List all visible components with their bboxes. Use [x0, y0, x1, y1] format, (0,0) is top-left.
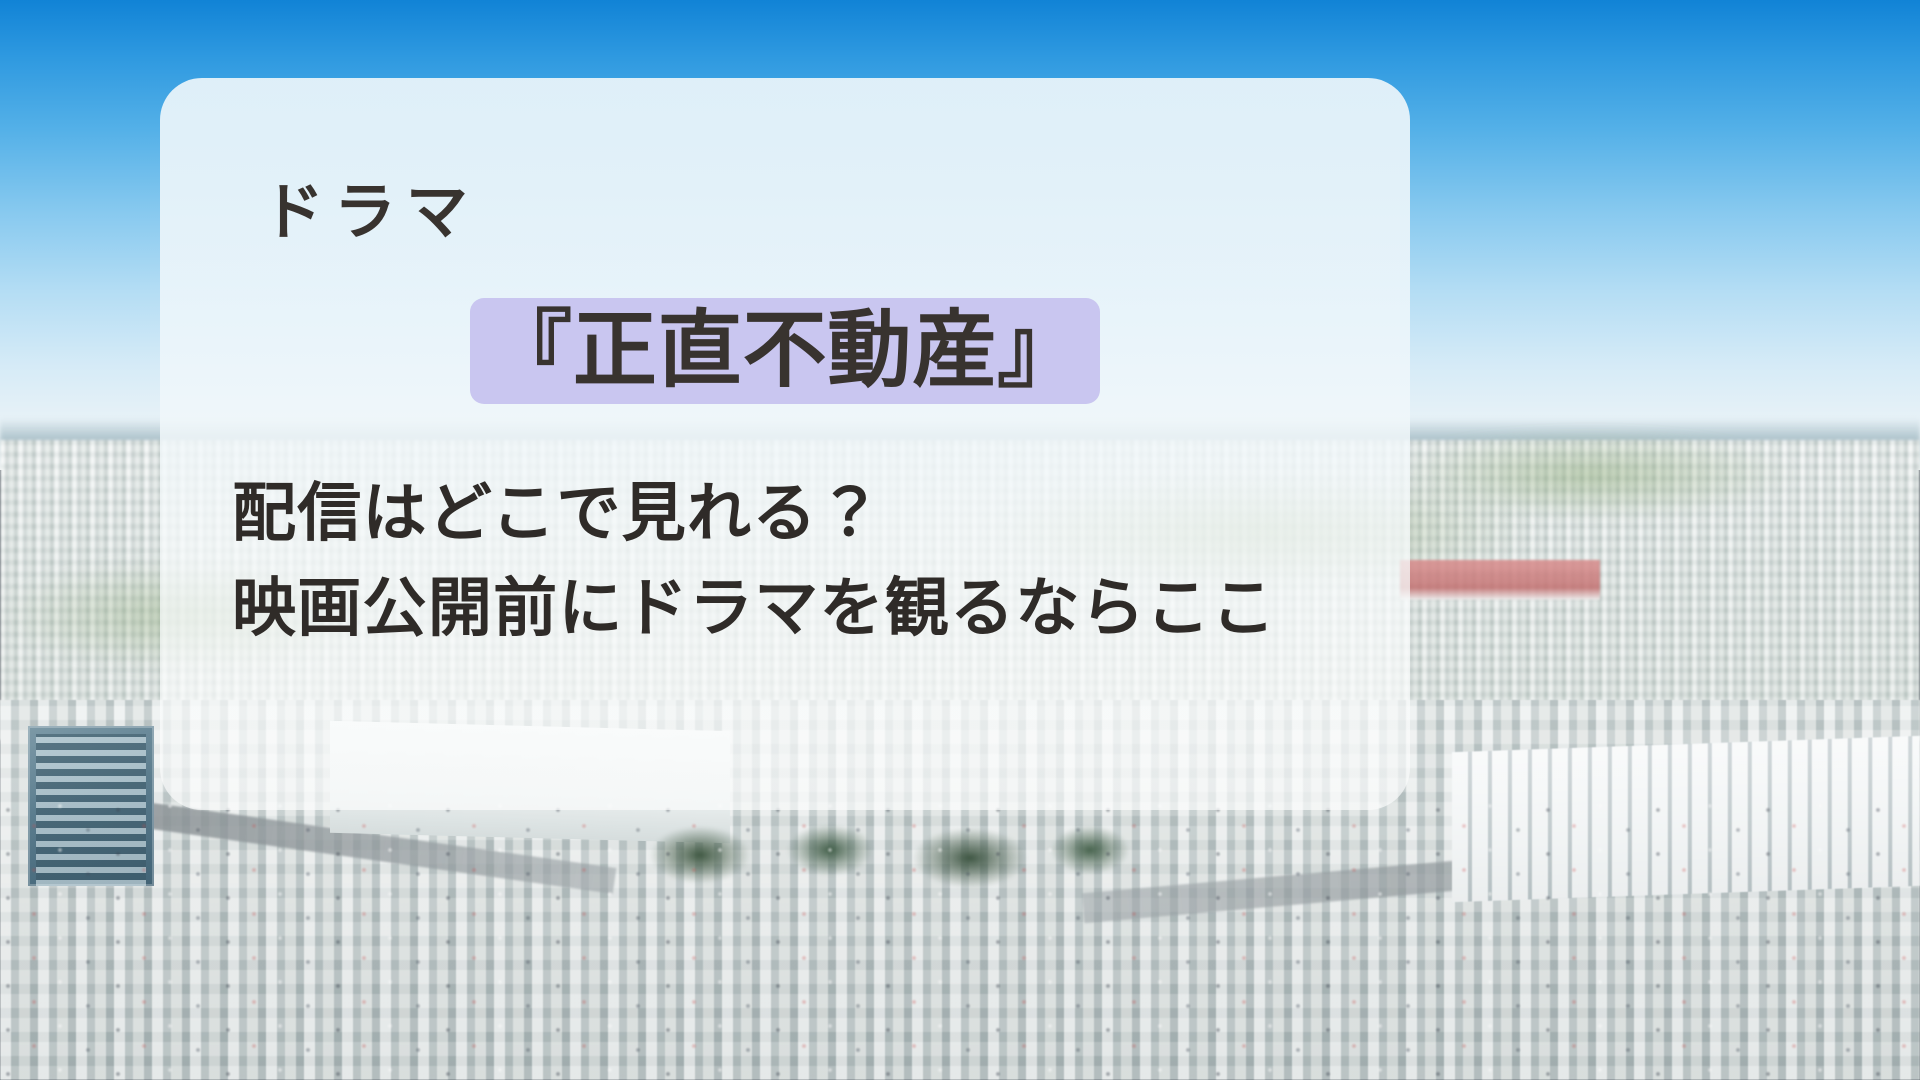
parking-lot-cars	[0, 800, 1920, 1080]
subtitle-line-2: 映画公開前にドラマを観るならここ	[232, 561, 1276, 656]
subtitle-line-1: 配信はどこで見れる？	[232, 466, 1276, 561]
red-roof-building	[1400, 560, 1600, 600]
genre-label: ドラマ	[262, 182, 478, 244]
subtitle-block: 配信はどこで見れる？ 映画公開前にドラマを観るならここ	[232, 466, 1276, 655]
page-title: 『正直不動産』	[488, 303, 1082, 397]
greenery-patch-right	[1380, 430, 1800, 520]
overlay-card: ドラマ 『正直不動産』 配信はどこで見れる？ 映画公開前にドラマを観るならここ	[160, 78, 1410, 810]
title-row: 『正直不動産』	[218, 298, 1352, 404]
thumbnail-canvas: ドラマ 『正直不動産』 配信はどこで見れる？ 映画公開前にドラマを観るならここ	[0, 0, 1920, 1080]
title-highlight: 『正直不動産』	[470, 298, 1100, 404]
overlay-card-content: ドラマ 『正直不動産』 配信はどこで見れる？ 映画公開前にドラマを観るならここ	[160, 78, 1410, 810]
